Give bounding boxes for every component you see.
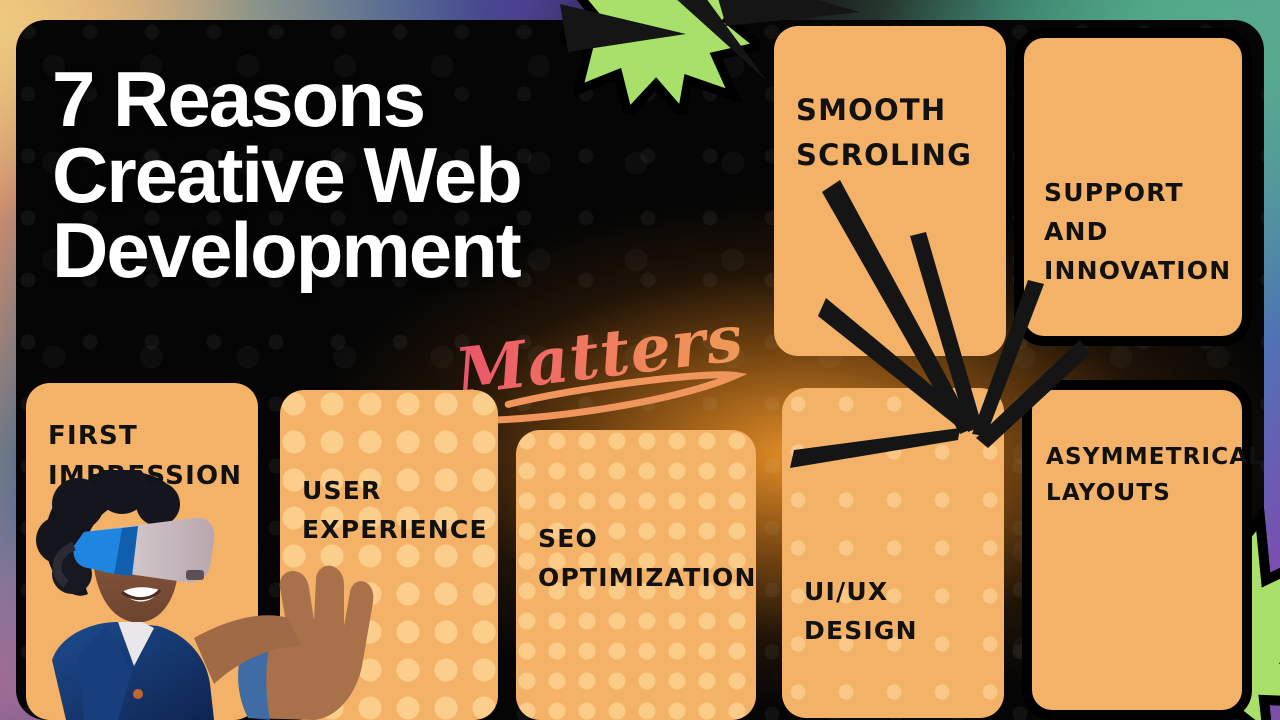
card-first-impression-label: FIRST IMPRESSION bbox=[48, 416, 244, 497]
title-line-3: Development bbox=[52, 213, 772, 289]
card-seo-optimization-label: SEO OPTIMIZATION bbox=[538, 520, 742, 598]
card-uiux-design-label: UI/UX DESIGN bbox=[804, 573, 990, 651]
title-line-2: Creative Web bbox=[52, 138, 772, 214]
raised-hand bbox=[230, 480, 380, 720]
card-first-impression[interactable]: FIRST IMPRESSION bbox=[26, 383, 258, 720]
poster-canvas: 7 Reasons Creative Web Development Matte… bbox=[0, 0, 1280, 720]
card-seo-optimization[interactable]: SEO OPTIMIZATION bbox=[516, 430, 756, 720]
black-radiating-spikes bbox=[760, 40, 1090, 470]
